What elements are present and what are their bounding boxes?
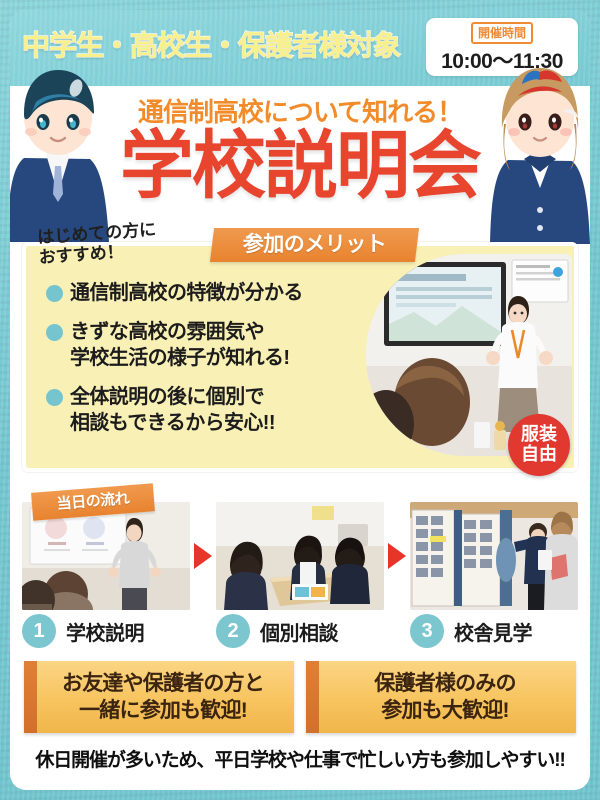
step-photo-individual-consultation xyxy=(216,502,384,610)
welcome-panel-guardians-only: 保護者様のみの参加も大歓迎! xyxy=(306,661,576,733)
bullet-dot-icon xyxy=(46,389,63,406)
benefits-section: はじめての方に おすすめ！ 参加のメリット 通信制高校の特徴が分かる きずな高校… xyxy=(22,232,578,472)
benefit-item-text: 全体説明の後に個別で相談もできるから安心!! xyxy=(70,384,275,436)
footnote-text: 休日開催が多いため、平日学校や仕事で忙しい方も参加しやすい!! xyxy=(10,745,590,772)
step-number-badge: 1 xyxy=(22,614,56,648)
welcome-panel-friends-guardians: お友達や保護者の方と一緒に参加も歓迎! xyxy=(24,661,294,733)
flow-section: 当日の流れ xyxy=(22,488,578,653)
bullet-dot-icon xyxy=(46,324,63,341)
step-number-badge: 2 xyxy=(216,614,250,648)
step-label: 学校説明 xyxy=(66,617,144,646)
event-time-badge: 開催時間 xyxy=(471,22,533,44)
step-caption: 2 個別相談 xyxy=(216,614,384,648)
merit-banner-label: 参加のメリット xyxy=(212,228,417,262)
benefit-item: 全体説明の後に個別で相談もできるから安心!! xyxy=(46,384,366,436)
benefit-item: きずな高校の雰囲気や学校生活の様子が知れる! xyxy=(46,319,366,371)
flow-step: 1 学校説明 xyxy=(22,502,190,648)
benefits-list: 通信制高校の特徴が分かる きずな高校の雰囲気や学校生活の様子が知れる! 全体説明… xyxy=(46,280,366,449)
flow-steps: 1 学校説明 xyxy=(22,502,578,648)
step-photo-campus-tour xyxy=(410,502,578,610)
welcome-panel-text: お友達や保護者の方と一緒に参加も歓迎! xyxy=(54,670,264,724)
flow-arrow-icon xyxy=(190,502,216,610)
step-caption: 1 学校説明 xyxy=(22,614,190,648)
welcome-panel-text: 保護者様のみの参加も大歓迎! xyxy=(366,670,515,724)
step-number-badge: 3 xyxy=(410,614,444,648)
step-label: 校舎見学 xyxy=(454,617,532,646)
dress-code-line2: 自由 xyxy=(508,444,570,464)
flow-step: 2 個別相談 xyxy=(216,502,384,648)
step-caption: 3 校舎見学 xyxy=(410,614,578,648)
step-label: 個別相談 xyxy=(260,617,338,646)
dress-code-badge: 服装 自由 xyxy=(508,414,570,476)
welcome-panels: お友達や保護者の方と一緒に参加も歓迎! 保護者様のみの参加も大歓迎! xyxy=(24,661,576,733)
benefit-item-text: 通信制高校の特徴が分かる xyxy=(70,280,303,306)
bullet-dot-icon xyxy=(46,285,63,302)
handwritten-recommendation-note: はじめての方に おすすめ！ xyxy=(37,220,159,268)
flow-step: 3 校舎見学 xyxy=(410,502,578,648)
flow-arrow-icon xyxy=(384,502,410,610)
benefit-item: 通信制高校の特徴が分かる xyxy=(46,280,366,306)
merit-banner: 参加のメリット xyxy=(210,228,419,262)
dress-code-line1: 服装 xyxy=(508,424,570,444)
page-title: 学校説明会 xyxy=(10,126,590,206)
audience-heading: 中学生・高校生・保護者様対象 xyxy=(22,24,400,64)
benefit-item-text: きずな高校の雰囲気や学校生活の様子が知れる! xyxy=(70,319,289,371)
flyer-card: 中学生・高校生・保護者様対象 開催時間 10:00〜11:30 xyxy=(10,10,590,790)
